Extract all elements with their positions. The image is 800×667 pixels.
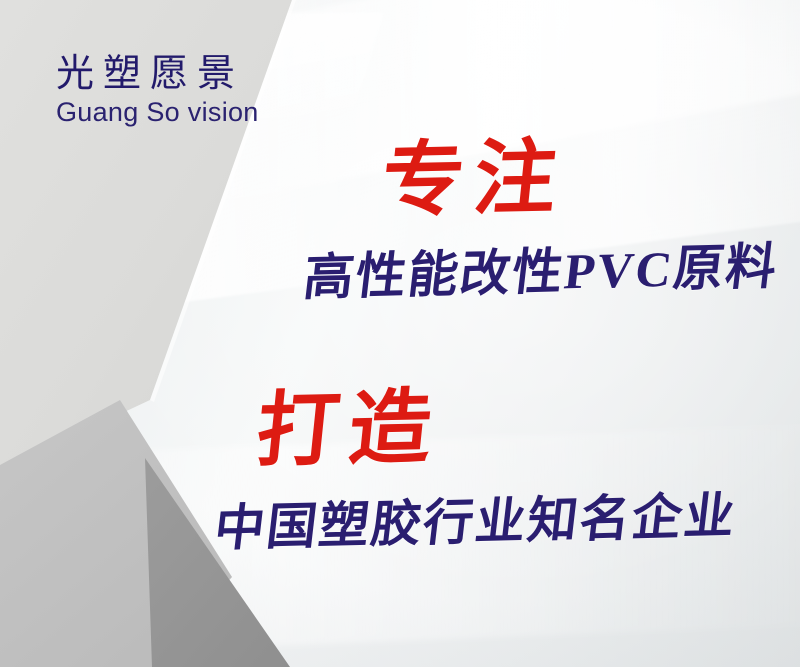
brand-logo: 光塑愿景 Guang So vision [56,55,356,128]
slogan-subtext-focus: 高性能改性PVC原料 [300,226,783,310]
slogan-subtext-build: 中国塑胶行业知名企业 [211,476,741,561]
slogan-headline-build: 打造 [252,360,449,483]
slogan-headline-focus: 专注 [377,110,574,233]
brand-name-english: Guang So vision [56,98,356,128]
promo-banner: 光塑愿景 Guang So vision 专注 高性能改性PVC原料 打造 中国… [0,0,800,667]
brand-name-chinese: 光塑愿景 [56,55,356,95]
